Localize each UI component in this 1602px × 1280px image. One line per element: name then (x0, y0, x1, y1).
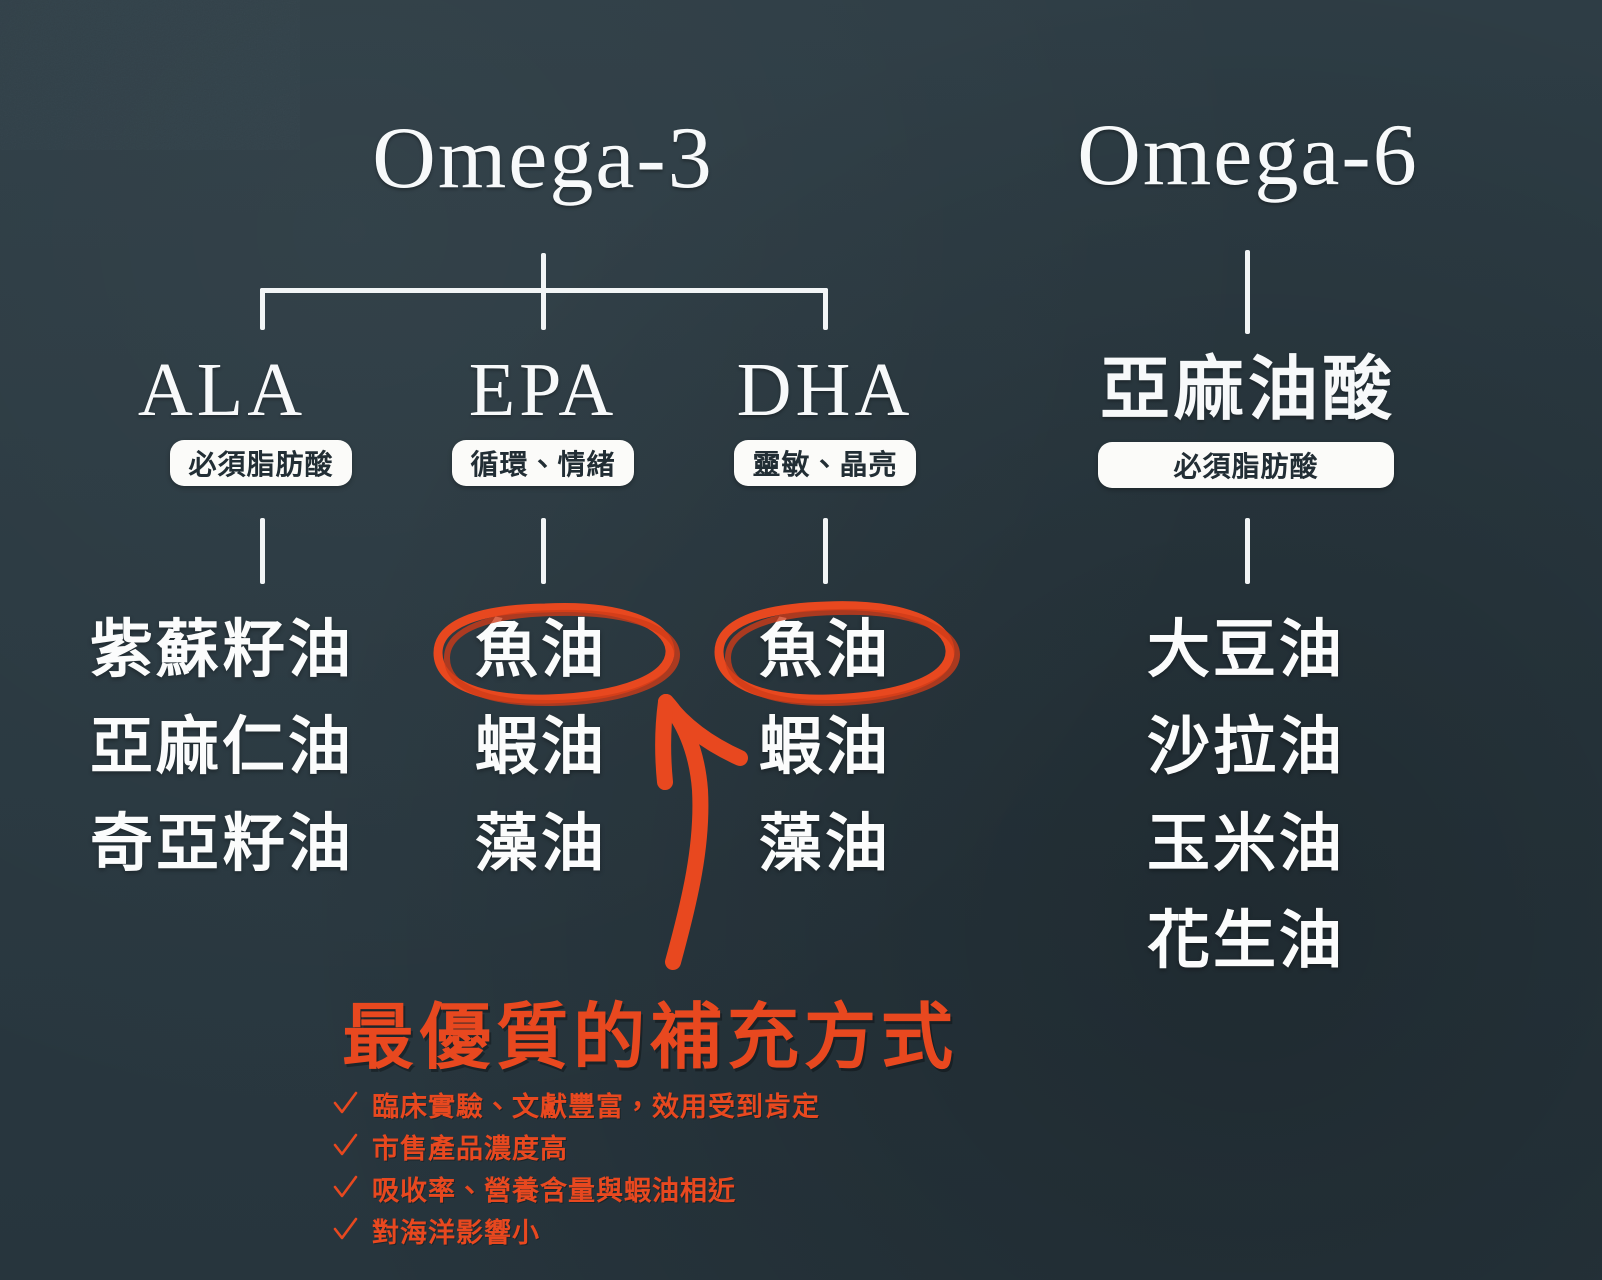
oil-item: 亞麻仁油 (37, 699, 407, 796)
oil-item: 蝦油 (416, 699, 666, 796)
badge-dha-label: 靈敏、晶亮 (752, 443, 897, 483)
connector-epa-to-oils (541, 518, 546, 584)
connector-dha-to-oils (823, 518, 828, 584)
omega6-stem-line (1245, 250, 1250, 334)
connector-linoleic-to-oils (1245, 518, 1250, 584)
oil-item: 藻油 (700, 796, 950, 893)
column-header-dha-label: DHA (737, 348, 914, 432)
benefits-list: 臨床實驗、文獻豐富，效用受到肯定 市售產品濃度高 吸收率、營養含量與蝦油相近 (332, 1085, 820, 1249)
oil-list-epa: 魚油 蝦油 藻油 (416, 602, 666, 893)
check-icon (332, 1217, 358, 1243)
oil-item: 奇亞籽油 (37, 796, 407, 893)
column-header-dha: DHA (675, 352, 975, 428)
connector-ala-to-oils (260, 518, 265, 584)
column-header-linoleic: 亞麻油酸 (1023, 354, 1473, 424)
oil-item-highlighted: 魚油 (416, 602, 666, 699)
list-item: 吸收率、營養含量與蝦油相近 (332, 1169, 820, 1207)
oil-list-linoleic: 大豆油 沙拉油 玉米油 花生油 (1093, 602, 1399, 990)
omega3-branch-dha (823, 288, 828, 330)
omega3-branch-epa (541, 288, 546, 330)
badge-epa-label: 循環、情緒 (470, 443, 615, 483)
omega6-title: Omega-6 (978, 105, 1518, 206)
badge-ala-label: 必須脂肪酸 (188, 443, 333, 483)
oil-item: 大豆油 (1093, 602, 1399, 699)
list-item-label: 吸收率、營養含量與蝦油相近 (372, 1169, 736, 1208)
check-icon (332, 1091, 358, 1117)
oil-list-dha: 魚油 蝦油 藻油 (700, 602, 950, 893)
badge-dha: 靈敏、晶亮 (734, 440, 916, 486)
column-header-ala-label: ALA (138, 348, 306, 432)
column-header-linoleic-label: 亞麻油酸 (1100, 350, 1396, 428)
omega3-title: Omega-3 (243, 108, 843, 209)
badge-ala: 必須脂肪酸 (170, 440, 352, 486)
badge-epa: 循環、情緒 (452, 440, 634, 486)
oil-item: 紫蘇籽油 (37, 602, 407, 699)
list-item: 臨床實驗、文獻豐富，效用受到肯定 (332, 1085, 820, 1123)
infographic-poster: Omega-3 Omega-6 ALA EPA DHA 亞麻油酸 必須脂肪酸 循… (0, 0, 1602, 1280)
column-header-epa: EPA (393, 352, 693, 428)
oil-item: 藻油 (416, 796, 666, 893)
omega3-branch-ala (260, 288, 265, 330)
column-header-ala: ALA (72, 352, 372, 428)
check-icon (332, 1175, 358, 1201)
oil-item: 玉米油 (1093, 796, 1399, 893)
list-item: 對海洋影響小 (332, 1211, 820, 1249)
column-header-epa-label: EPA (469, 348, 618, 432)
oil-item: 蝦油 (700, 699, 950, 796)
oil-list-ala: 紫蘇籽油 亞麻仁油 奇亞籽油 (37, 602, 407, 893)
list-item: 市售產品濃度高 (332, 1127, 820, 1165)
list-item-label: 市售產品濃度高 (372, 1127, 568, 1166)
callout-headline: 最優質的補充方式 (250, 978, 1050, 1083)
oil-item: 花生油 (1093, 893, 1399, 990)
oil-item-highlighted: 魚油 (700, 602, 950, 699)
list-item-label: 臨床實驗、文獻豐富，效用受到肯定 (372, 1085, 820, 1124)
badge-linoleic-label: 必須脂肪酸 (1173, 445, 1318, 485)
oil-item: 沙拉油 (1093, 699, 1399, 796)
list-item-label: 對海洋影響小 (372, 1211, 540, 1250)
badge-linoleic: 必須脂肪酸 (1098, 442, 1394, 488)
check-icon (332, 1133, 358, 1159)
